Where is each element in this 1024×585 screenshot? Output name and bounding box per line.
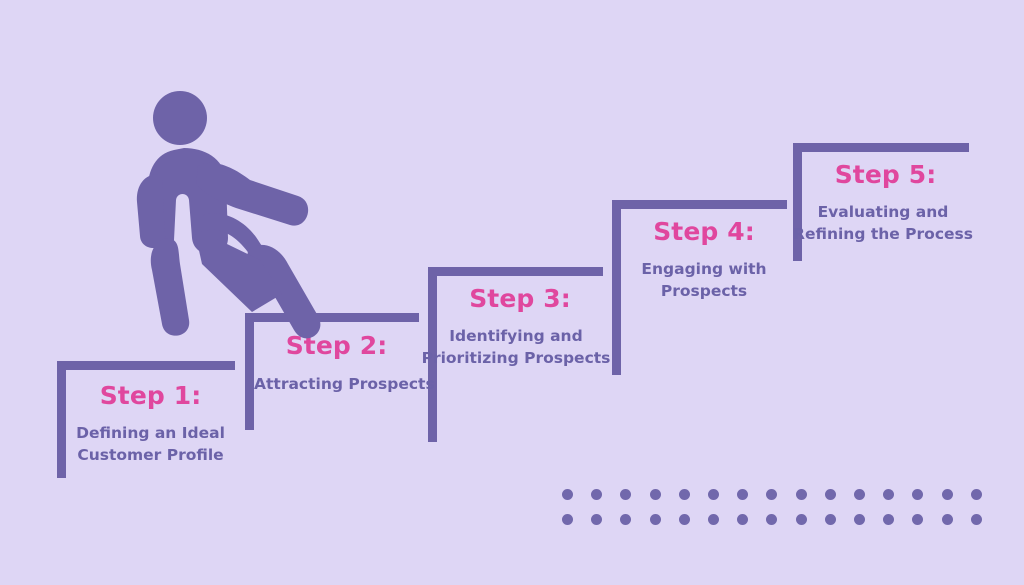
step-3-description-line-1: Identifying and [412, 325, 620, 347]
step-block-5: Step 5: Evaluating and Refining the Proc… [793, 143, 969, 261]
dot-grid-dot [796, 489, 807, 500]
dot-grid-dot [912, 514, 923, 525]
step-block-3: Step 3: Identifying and Prioritizing Pro… [428, 267, 603, 442]
dot-grid-dot [796, 514, 807, 525]
infographic-canvas: Step 5: Evaluating and Refining the Proc… [0, 0, 1024, 585]
dot-grid-dot [942, 489, 953, 500]
walking-person-icon [132, 88, 342, 348]
figure-head [153, 91, 207, 145]
dot-grid-dot [620, 489, 631, 500]
dot-grid-dot [737, 489, 748, 500]
step-1-description-line-2: Customer Profile [66, 444, 235, 466]
step-4-description: Engaging with Prospects [616, 258, 792, 302]
step-3-bracket-top [428, 267, 603, 276]
step-4-description-line-1: Engaging with [616, 258, 792, 280]
step-1-description: Defining an Ideal Customer Profile [66, 422, 235, 466]
step-block-1: Step 1: Defining an Ideal Customer Profi… [57, 361, 235, 478]
dot-grid-dot [825, 489, 836, 500]
dot-grid-dot [679, 489, 690, 500]
figure-back-leg [151, 238, 189, 336]
dot-grid-dot [971, 489, 982, 500]
dot-grid-decoration [562, 489, 982, 529]
step-1-bracket-top [57, 361, 235, 370]
step-4-title: Step 4: [621, 217, 787, 246]
step-4-description-line-2: Prospects [616, 280, 792, 302]
dot-grid-dot [620, 514, 631, 525]
step-3-title: Step 3: [437, 284, 603, 313]
step-1-title: Step 1: [66, 381, 235, 410]
dot-grid-dot [854, 514, 865, 525]
dot-grid-dot [854, 489, 865, 500]
figure-back-arm [137, 174, 165, 248]
step-5-bracket-top [793, 143, 969, 152]
dot-grid-dot [650, 489, 661, 500]
step-3-description-line-2: Prioritizing Prospects [412, 347, 620, 369]
walking-person-svg [132, 88, 342, 348]
dot-grid-dot [591, 514, 602, 525]
step-4-bracket-top [612, 200, 787, 209]
step-5-description-line-1: Evaluating and [788, 201, 978, 223]
dot-grid-dot [766, 489, 777, 500]
dot-grid-dot [562, 514, 573, 525]
dot-grid-dot [883, 489, 894, 500]
step-5-title: Step 5: [802, 160, 969, 189]
dot-grid-dot [971, 514, 982, 525]
dot-grid-dot [825, 514, 836, 525]
dot-grid-dot [766, 514, 777, 525]
dot-grid-dot [679, 514, 690, 525]
dot-grid-dot [591, 489, 602, 500]
step-block-4: Step 4: Engaging with Prospects [612, 200, 787, 375]
step-2-description-line-1: Attracting Prospects [254, 373, 419, 395]
step-1-description-line-1: Defining an Ideal [66, 422, 235, 444]
dot-grid-dot [942, 514, 953, 525]
dot-grid-dot [708, 489, 719, 500]
step-1-bracket-left [57, 361, 66, 478]
step-5-description: Evaluating and Refining the Process [788, 201, 978, 245]
dot-grid-dot [883, 514, 894, 525]
dot-grid-dot [562, 489, 573, 500]
step-5-description-line-2: Refining the Process [788, 223, 978, 245]
dot-grid-dot [650, 514, 661, 525]
step-2-description: Attracting Prospects [254, 373, 419, 395]
dot-grid-dot [737, 514, 748, 525]
dot-grid-dot [912, 489, 923, 500]
dot-grid-dot [708, 514, 719, 525]
step-3-description: Identifying and Prioritizing Prospects [412, 325, 620, 369]
